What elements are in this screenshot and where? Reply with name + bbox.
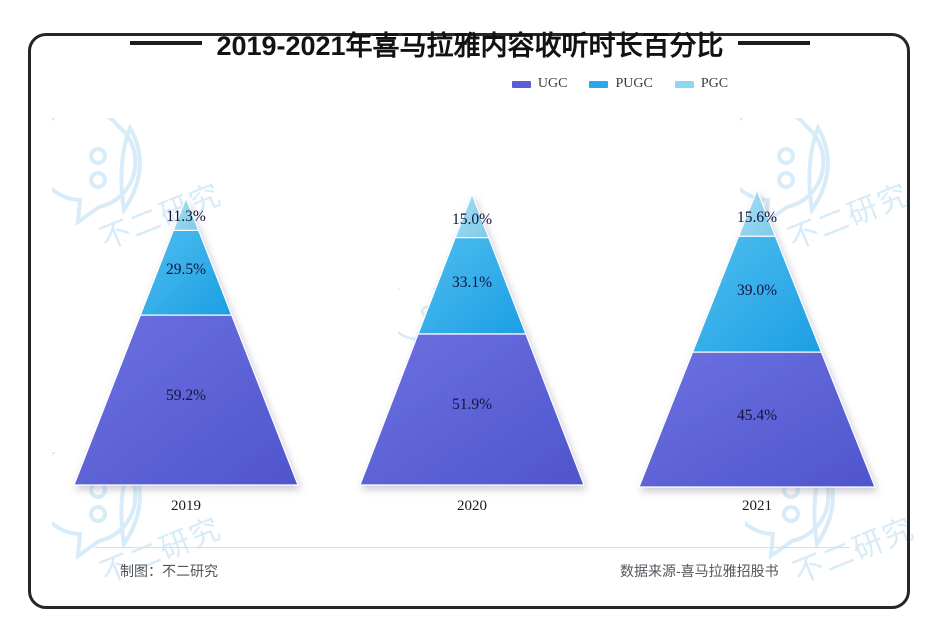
band-value-2019-pugc: 29.5% bbox=[126, 261, 246, 279]
footer-divider bbox=[95, 547, 850, 548]
band-value-2019-ugc: 59.2% bbox=[126, 387, 246, 405]
pyramid-2020[interactable] bbox=[360, 194, 584, 485]
band-value-2020-pgc: 15.0% bbox=[412, 211, 532, 229]
chart-canvas: 不二研究不二研究不二研究不二研究 2019-2021年喜马拉雅内容收听时长百分比… bbox=[0, 0, 940, 644]
x-axis-label-2020: 2020 bbox=[422, 498, 522, 515]
band-value-2021-pugc: 39.0% bbox=[697, 282, 817, 300]
band-value-2019-pgc: 11.3% bbox=[126, 208, 246, 226]
band-value-2021-pgc: 15.6% bbox=[697, 209, 817, 227]
pyramid-2021[interactable] bbox=[639, 190, 875, 487]
band-value-2020-ugc: 51.9% bbox=[412, 396, 532, 414]
x-axis-label-2021: 2021 bbox=[707, 498, 807, 515]
footer-source: 数据来源-喜马拉雅招股书 bbox=[620, 561, 779, 581]
x-axis-label-2019: 2019 bbox=[136, 498, 236, 515]
footer-credit: 制图：不二研究 bbox=[120, 561, 218, 581]
band-value-2021-ugc: 45.4% bbox=[697, 407, 817, 425]
band-value-2020-pugc: 33.1% bbox=[412, 274, 532, 292]
pyramid-2019[interactable] bbox=[74, 198, 298, 485]
